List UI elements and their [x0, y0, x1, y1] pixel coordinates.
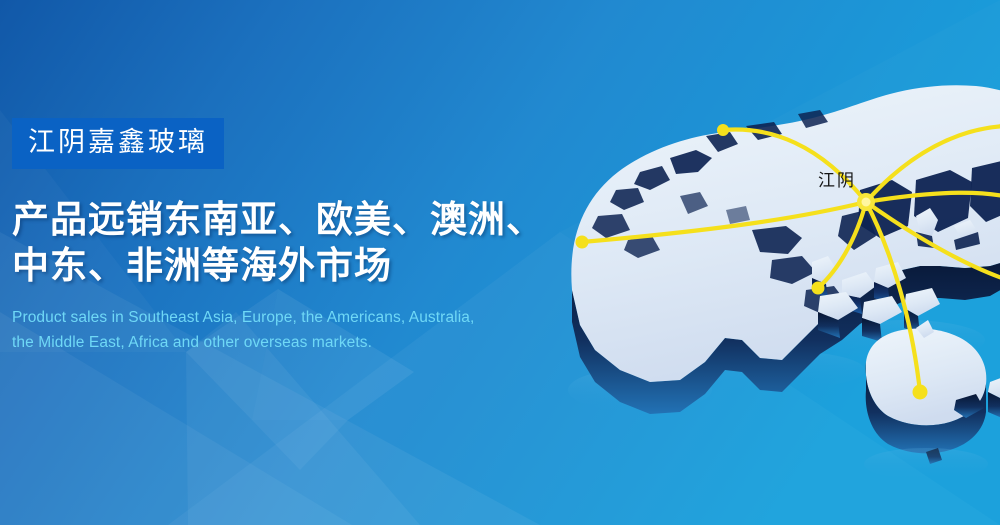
headline-line-1: 产品远销东南亚、欧美、澳洲、	[12, 197, 582, 243]
banner-text-block: 江阴嘉鑫玻璃 产品远销东南亚、欧美、澳洲、 中东、非洲等海外市场 Product…	[12, 118, 582, 355]
promo-banner: 江阴 江阴嘉鑫玻璃 产品远销东南亚、欧美、澳洲、 中东、非洲等海外市场 Prod…	[0, 0, 1000, 525]
headline: 产品远销东南亚、欧美、澳洲、 中东、非洲等海外市场	[12, 197, 582, 288]
brand-badge: 江阴嘉鑫玻璃	[12, 118, 224, 169]
subtitle-line-2: the Middle East, Africa and other overse…	[12, 330, 582, 355]
map-hub-label: 江阴	[818, 166, 856, 191]
world-map	[520, 40, 1000, 510]
subtitle: Product sales in Southeast Asia, Europe,…	[12, 305, 582, 355]
subtitle-line-1: Product sales in Southeast Asia, Europe,…	[12, 305, 582, 330]
headline-line-2: 中东、非洲等海外市场	[12, 243, 582, 289]
